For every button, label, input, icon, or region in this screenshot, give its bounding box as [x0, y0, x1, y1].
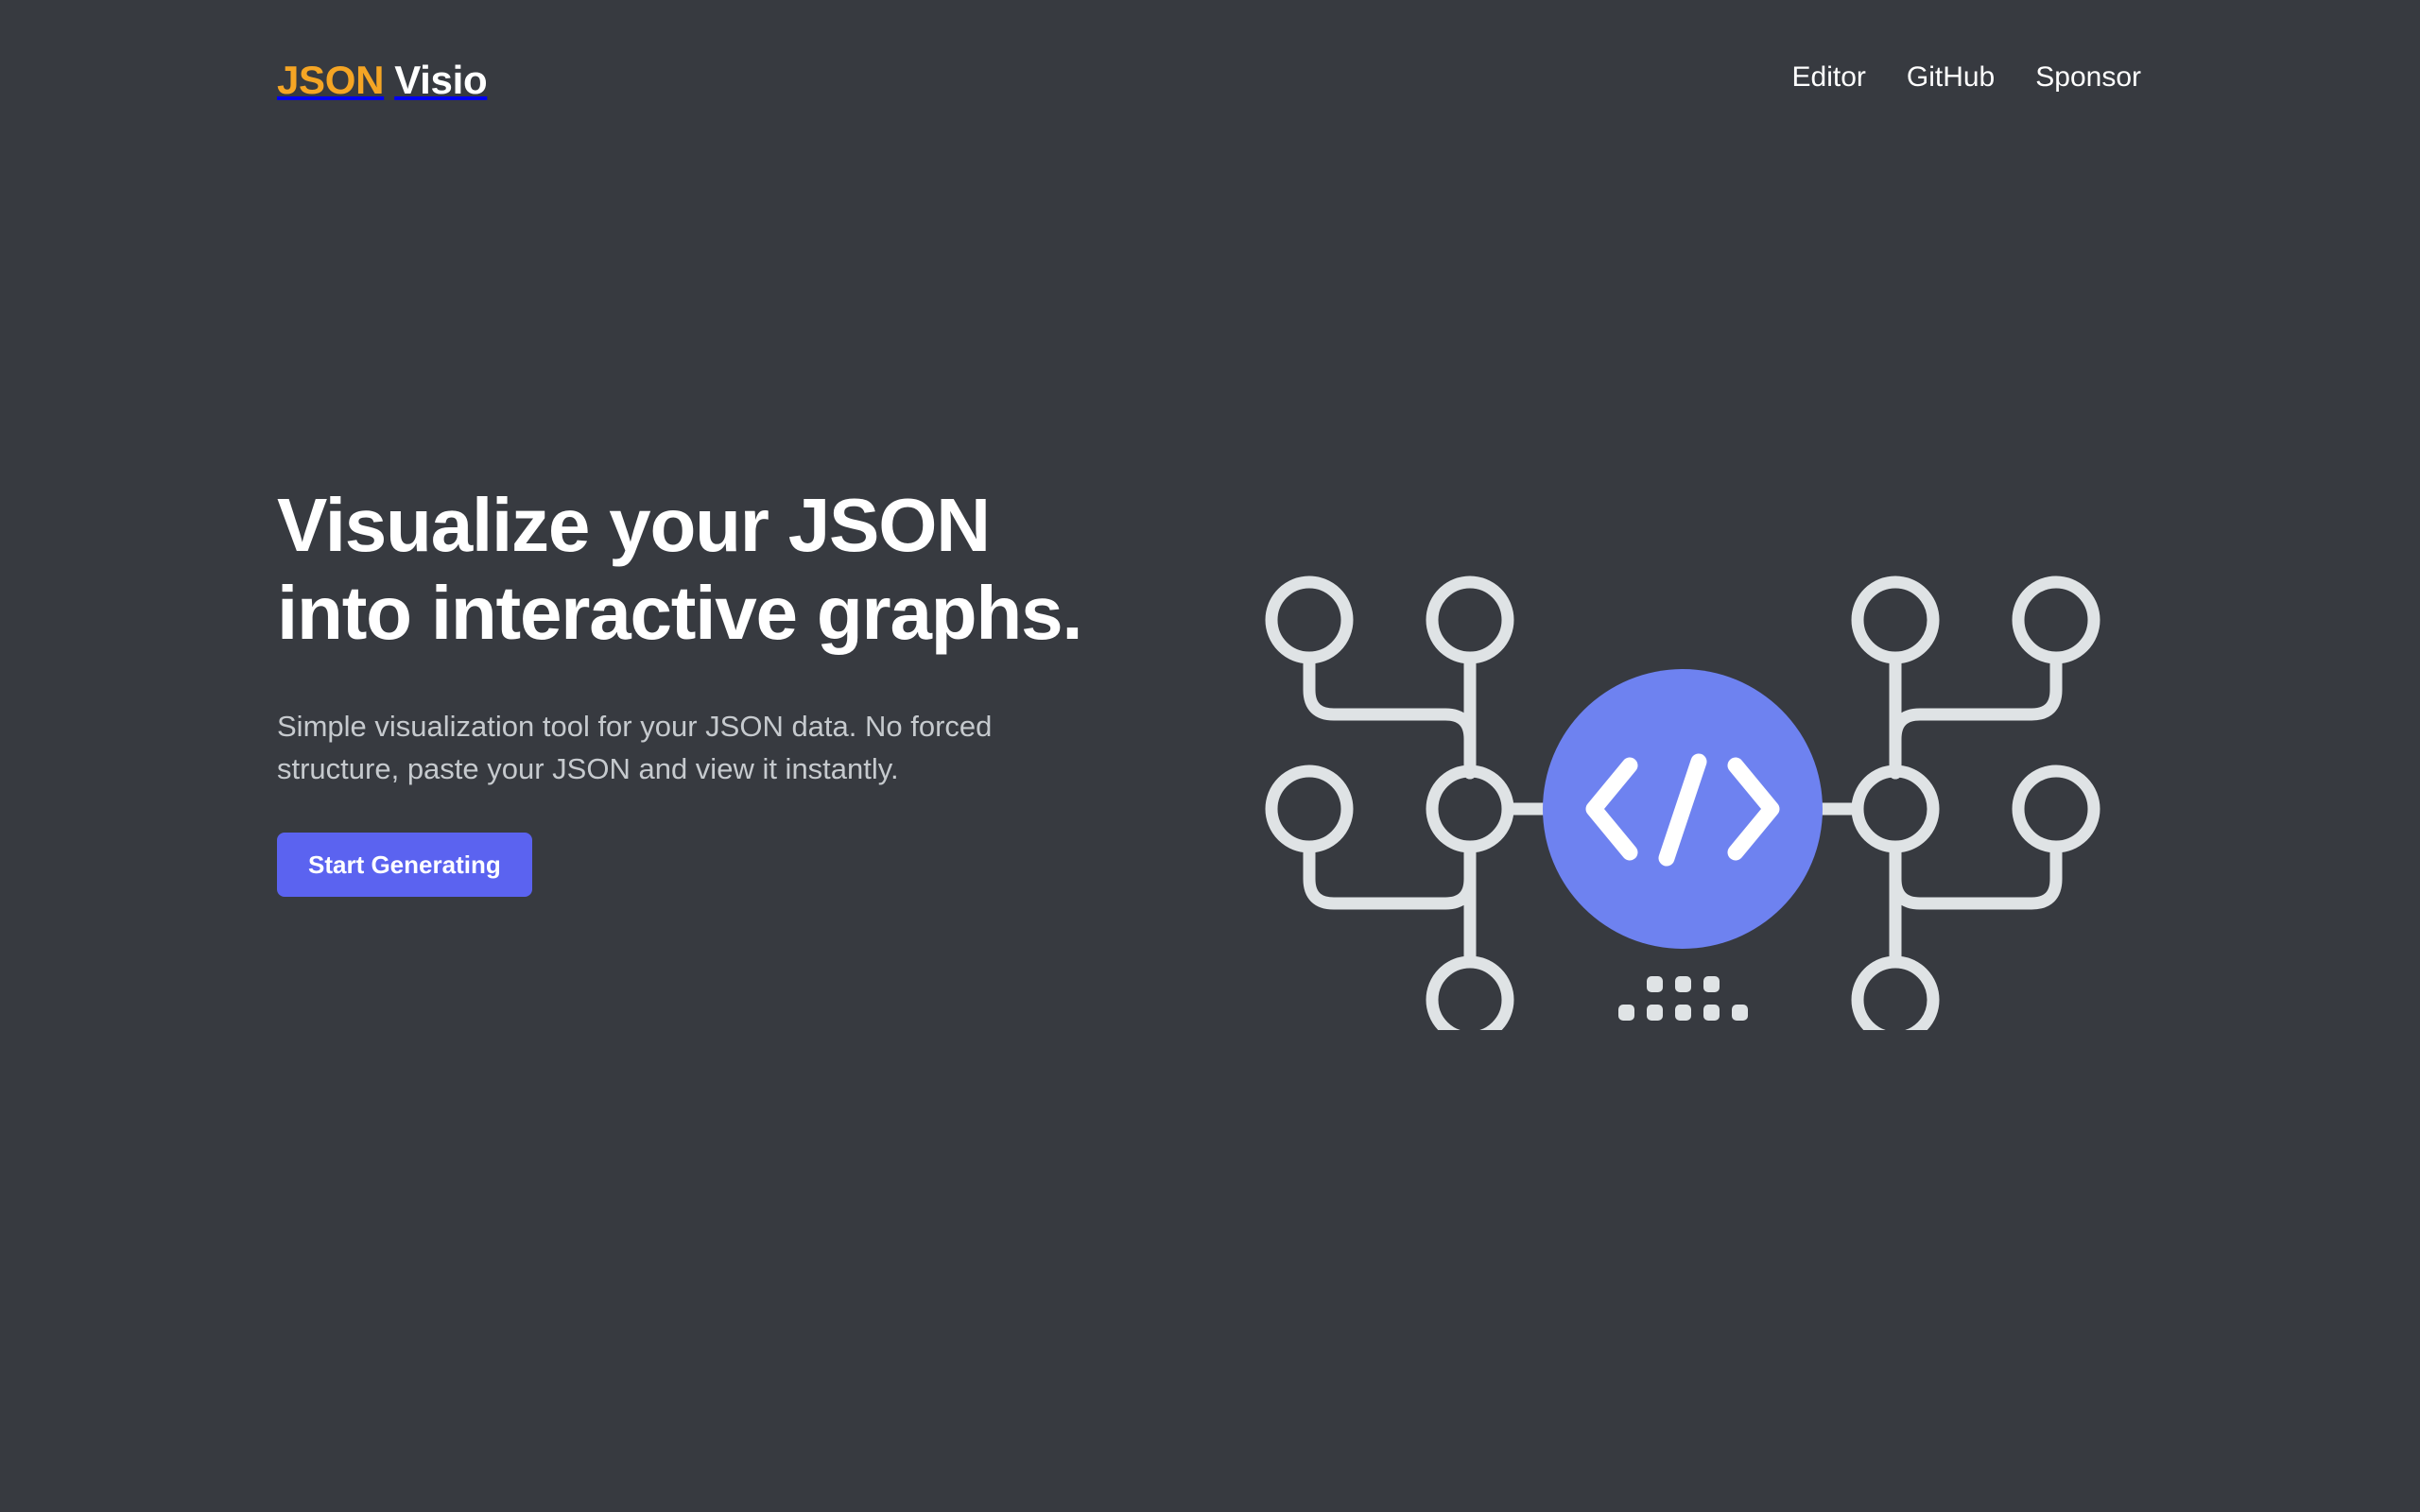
edge-left-outer-top — [1309, 658, 1470, 773]
hero-section: Visualize your JSON into interactive gra… — [0, 142, 2420, 1512]
edge-left-outer-mid — [1309, 847, 1470, 903]
edge-right-outer-mid — [1895, 847, 2056, 903]
dot-grid-icon — [1618, 976, 1748, 1030]
hero-illustration — [1229, 539, 2136, 1030]
node-left-outer-top — [1271, 582, 1347, 658]
start-generating-button[interactable]: Start Generating — [277, 833, 532, 897]
hero-copy: Visualize your JSON into interactive gra… — [277, 482, 1128, 897]
brand-logo[interactable]: JSON Visio — [277, 60, 487, 100]
brand-logo-visio: Visio — [394, 60, 487, 100]
node-left-inner-bottom — [1432, 962, 1508, 1030]
node-left-inner-mid — [1432, 771, 1508, 847]
node-right-inner-mid — [1858, 771, 1933, 847]
node-right-inner-bottom — [1858, 962, 1933, 1030]
node-right-outer-top — [2018, 582, 2094, 658]
json-graph-illustration — [1229, 539, 2136, 1030]
hero-subtitle: Simple visualization tool for your JSON … — [277, 705, 1062, 792]
edge-right-outer-top — [1895, 658, 2056, 773]
node-left-inner-top — [1432, 582, 1508, 658]
node-right-inner-top — [1858, 582, 1933, 658]
nav-link-sponsor[interactable]: Sponsor — [2035, 63, 2141, 92]
main-nav: Editor GitHub Sponsor — [1792, 63, 2142, 92]
nav-link-editor[interactable]: Editor — [1792, 63, 1866, 92]
brand-logo-json: JSON — [277, 60, 384, 100]
site-header: JSON Visio Editor GitHub Sponsor — [0, 0, 2420, 142]
node-left-outer-mid — [1271, 771, 1347, 847]
node-right-outer-mid — [2018, 771, 2094, 847]
nav-link-github[interactable]: GitHub — [1907, 63, 1995, 92]
page-title: Visualize your JSON into interactive gra… — [277, 482, 1090, 658]
